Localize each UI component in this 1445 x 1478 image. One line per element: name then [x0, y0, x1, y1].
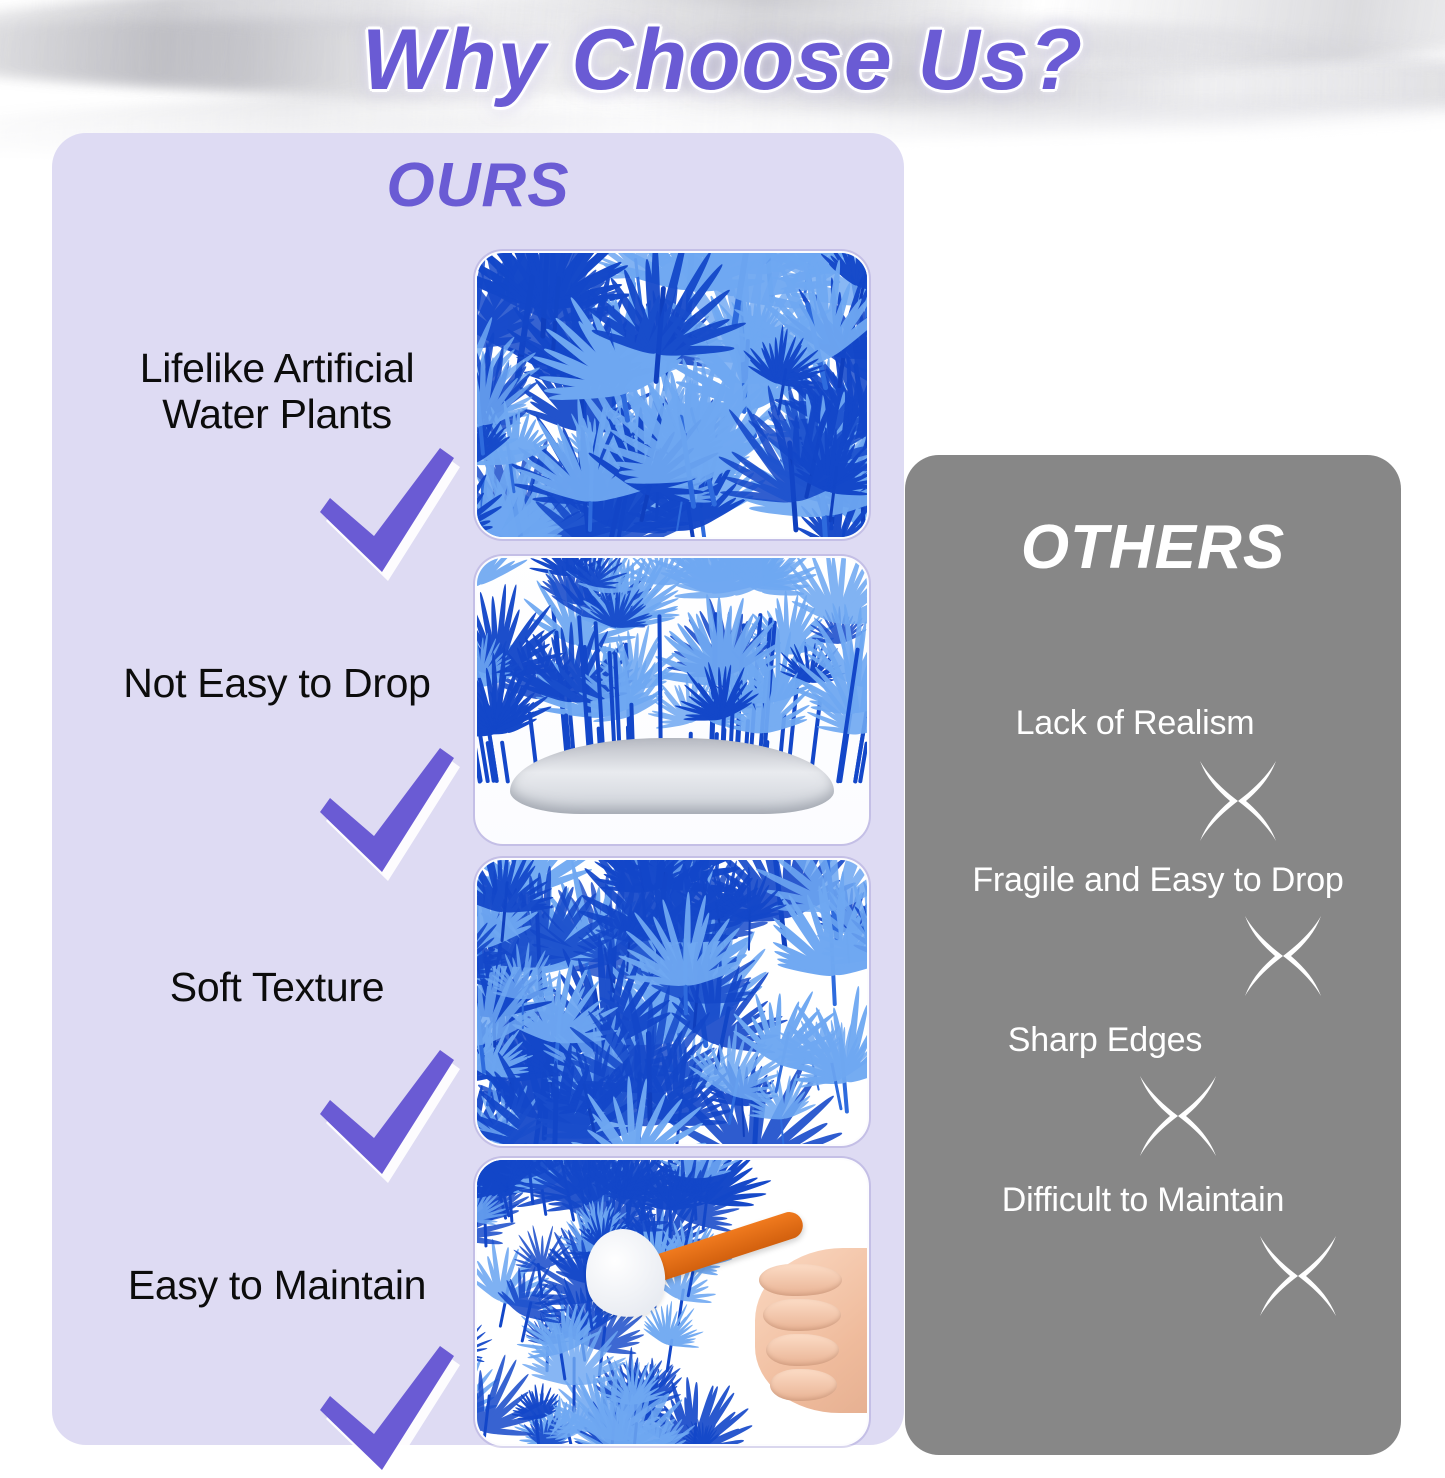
- drawback-row-3: Sharp Edges: [905, 1022, 1401, 1202]
- feature-4-text-block: Easy to Maintain: [62, 1152, 492, 1452]
- drawback-row-1: Lack of Realism: [905, 705, 1401, 885]
- x-icon: [1130, 1068, 1226, 1164]
- drawback-3-label: Sharp Edges: [875, 1022, 1335, 1059]
- finger: [770, 1369, 837, 1401]
- finger: [763, 1299, 841, 1331]
- feature-1-photo: [477, 253, 867, 537]
- feature-4-label: Easy to Maintain: [62, 1262, 492, 1308]
- feature-row-2: Not Easy to Drop: [52, 550, 904, 850]
- feature-1-label-line1: Lifelike Artificial: [140, 345, 415, 391]
- feature-1-label-line2: Water Plants: [162, 391, 392, 437]
- feature-row-1: Lifelike Artificial Water Plants: [52, 245, 904, 545]
- feature-row-3: Soft Texture: [52, 852, 904, 1152]
- feature-3-text-block: Soft Texture: [62, 852, 492, 1152]
- others-heading: OTHERS: [905, 512, 1401, 583]
- plant-base: [510, 738, 833, 814]
- page-title: Why Choose Us?: [0, 8, 1445, 112]
- drawback-4-label: Difficult to Maintain: [913, 1182, 1373, 1219]
- drawback-1-label: Lack of Realism: [905, 705, 1365, 742]
- feature-2-text-block: Not Easy to Drop: [62, 550, 492, 850]
- feature-3-photo: [477, 860, 867, 1144]
- finger: [759, 1264, 842, 1296]
- feature-1-text-block: Lifelike Artificial Water Plants: [62, 245, 492, 545]
- feature-1-label: Lifelike Artificial Water Plants: [62, 345, 492, 438]
- feature-4-photo: [477, 1160, 867, 1444]
- feature-3-label: Soft Texture: [62, 964, 492, 1010]
- check-icon: [312, 1338, 462, 1478]
- feature-2-photo: [477, 558, 867, 842]
- drawback-row-2: Fragile and Easy to Drop: [905, 862, 1401, 1042]
- x-icon: [1235, 908, 1331, 1004]
- finger: [766, 1334, 839, 1366]
- drawback-2-label: Fragile and Easy to Drop: [923, 862, 1393, 899]
- x-icon: [1250, 1228, 1346, 1324]
- drawback-row-4: Difficult to Maintain: [905, 1182, 1401, 1362]
- ours-heading: OURS: [52, 150, 904, 222]
- x-icon: [1190, 753, 1286, 849]
- feature-row-4: Easy to Maintain: [52, 1152, 904, 1452]
- feature-2-label: Not Easy to Drop: [62, 660, 492, 706]
